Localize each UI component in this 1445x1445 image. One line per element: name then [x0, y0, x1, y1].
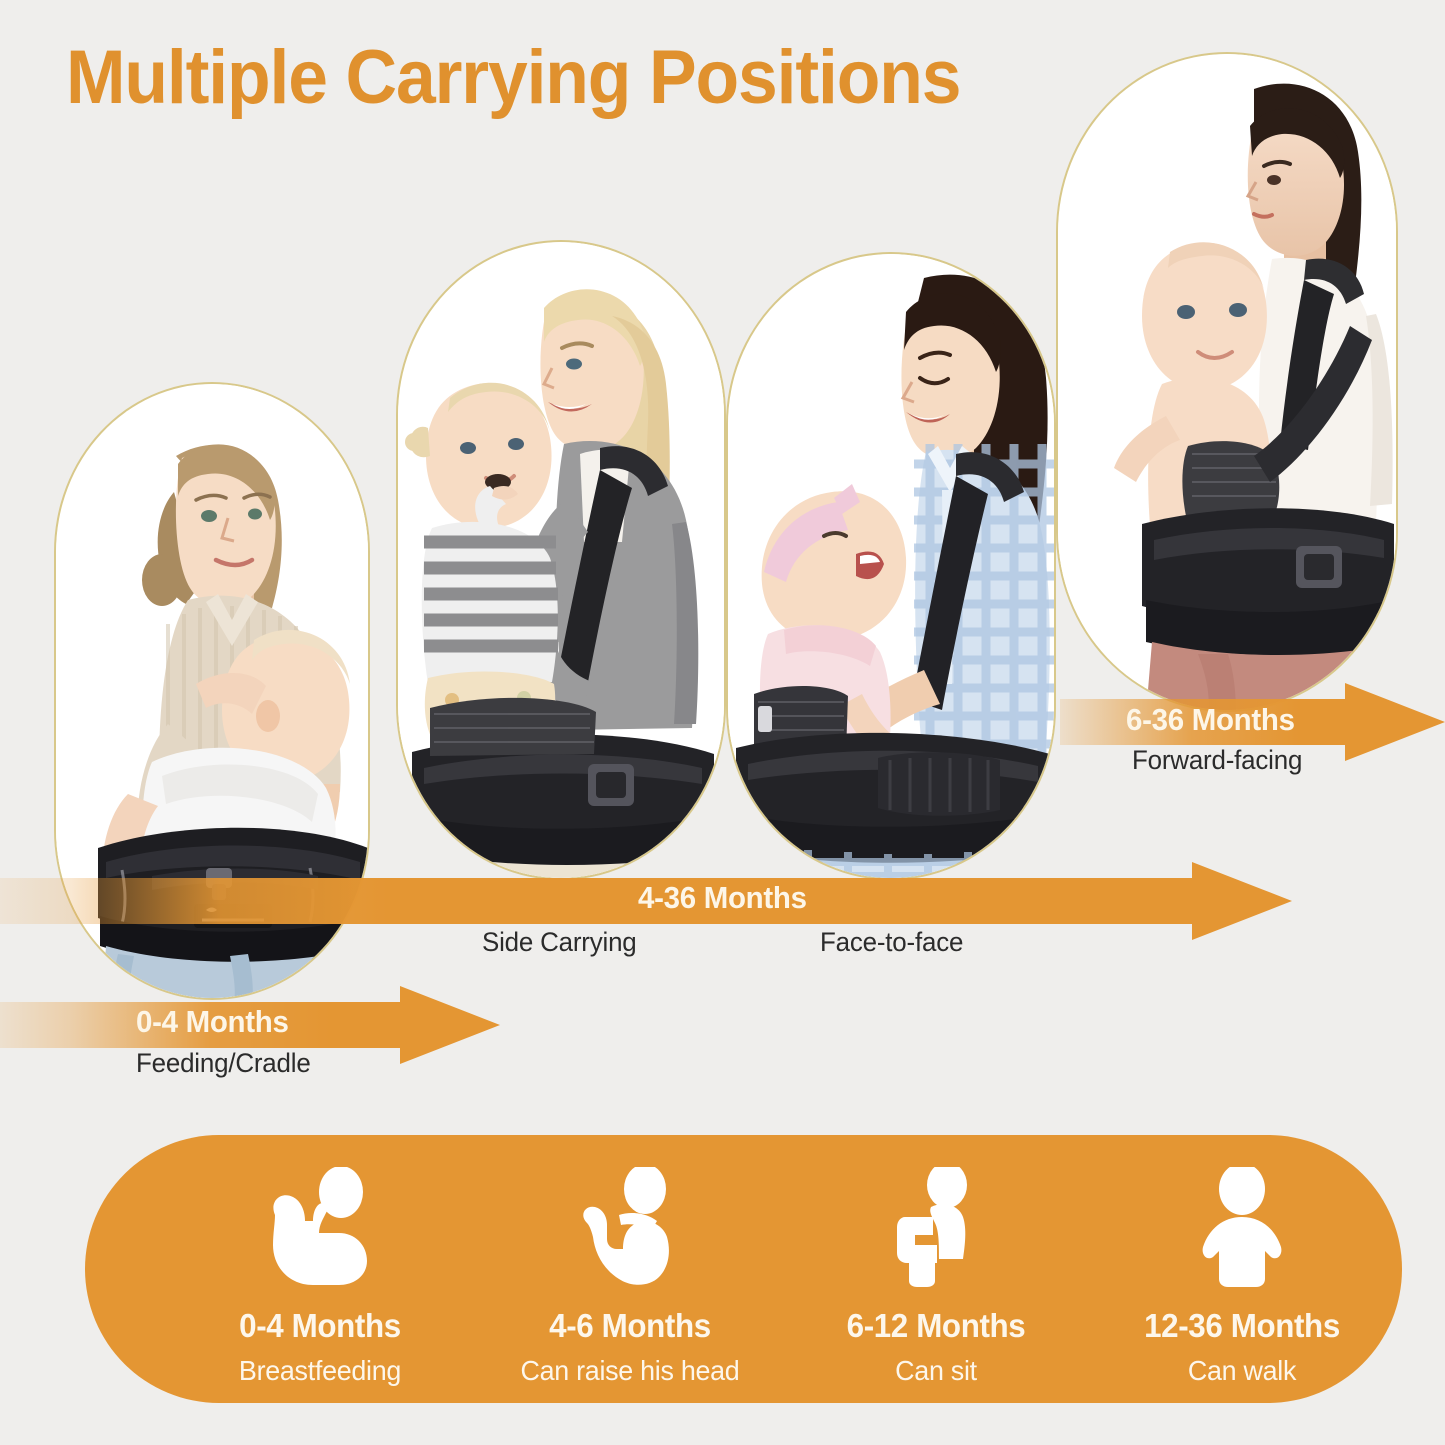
photo-card-forward-facing — [1056, 52, 1398, 712]
milestone-4-6-months: 4-6 Months Can raise his head — [485, 1135, 775, 1403]
baby-breastfeeding-icon — [255, 1167, 385, 1287]
photo-side-carrying — [398, 242, 724, 878]
arrow-0-4-age: 0-4 Months — [136, 1004, 289, 1040]
milestone-4-6-age: 4-6 Months — [492, 1307, 768, 1345]
milestone-0-4-months: 0-4 Months Breastfeeding — [175, 1135, 465, 1403]
milestone-6-12-age: 6-12 Months — [798, 1307, 1074, 1345]
infographic-canvas: Multiple Carrying Positions — [0, 0, 1445, 1445]
milestone-12-36-age: 12-36 Months — [1104, 1307, 1380, 1345]
arrow-6-36-months: 6-36 Months Forward-facing — [1060, 683, 1445, 761]
arrow-0-4-mode: Feeding/Cradle — [136, 1048, 311, 1079]
baby-standing-icon — [1177, 1167, 1307, 1287]
milestone-4-6-ability: Can raise his head — [491, 1355, 769, 1387]
baby-raise-head-icon — [565, 1167, 695, 1287]
milestone-12-36-ability: Can walk — [1103, 1355, 1381, 1387]
milestone-0-4-age: 0-4 Months — [182, 1307, 458, 1345]
arrow-4-36-months: 4-36 Months Side Carrying Face-to-face — [0, 862, 1292, 940]
photo-card-side-carrying — [396, 240, 726, 880]
arrow-6-36-mode: Forward-facing — [1132, 745, 1302, 776]
photo-card-face-to-face — [726, 252, 1056, 880]
arrow-0-4-months: 0-4 Months Feeding/Cradle — [0, 986, 500, 1064]
arrow-4-36-age: 4-36 Months — [638, 880, 807, 916]
arrow-4-36-mode-face: Face-to-face — [820, 927, 963, 958]
arrow-6-36-age: 6-36 Months — [1126, 702, 1295, 738]
milestones-panel: 0-4 Months Breastfeeding 4-6 Months Can … — [85, 1135, 1402, 1403]
milestone-12-36-months: 12-36 Months Can walk — [1097, 1135, 1387, 1403]
milestone-6-12-ability: Can sit — [797, 1355, 1075, 1387]
baby-sitting-icon — [871, 1167, 1001, 1287]
milestone-0-4-ability: Breastfeeding — [181, 1355, 459, 1387]
page-title: Multiple Carrying Positions — [66, 36, 960, 120]
arrow-4-36-mode-side: Side Carrying — [482, 927, 637, 958]
photo-forward-facing — [1058, 54, 1396, 710]
photo-face-to-face — [728, 254, 1054, 878]
milestone-6-12-months: 6-12 Months Can sit — [791, 1135, 1081, 1403]
